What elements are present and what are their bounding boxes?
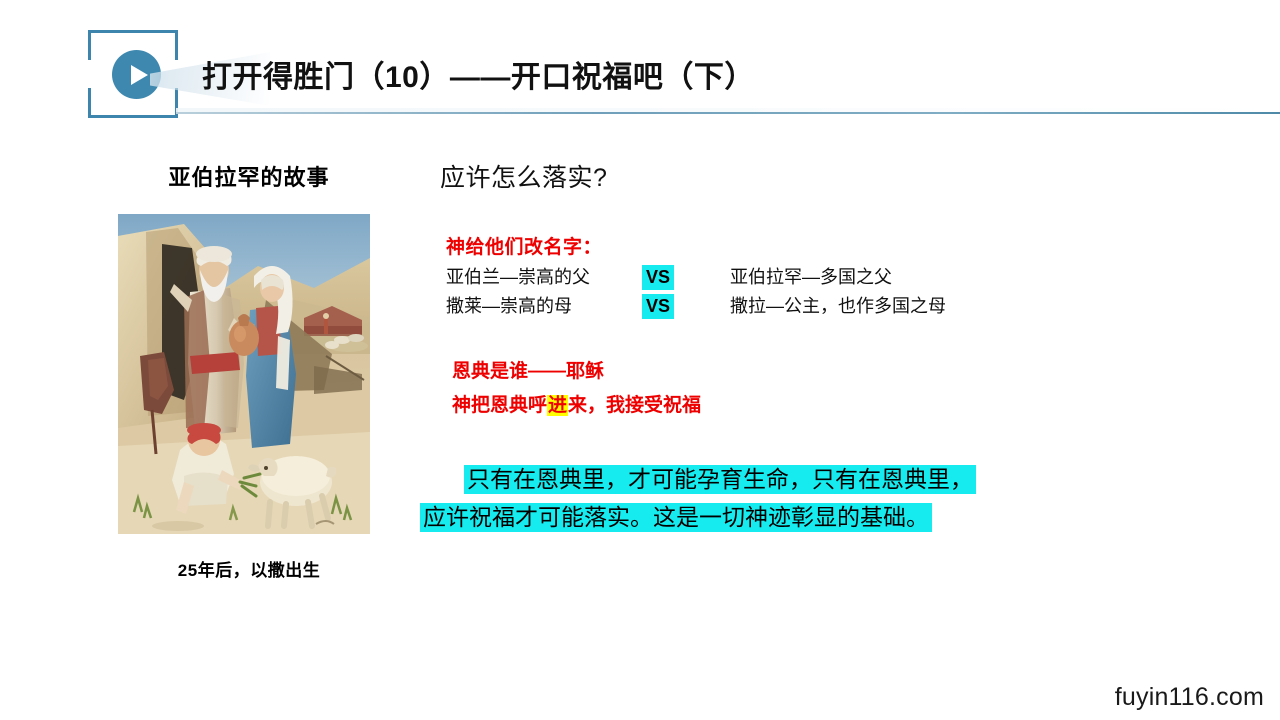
old-name-abram: 亚伯兰—崇高的父 <box>446 263 642 292</box>
bracket-right-upper-edge <box>175 30 178 60</box>
story-heading: 亚伯拉罕的故事 <box>118 160 380 192</box>
vs-badge: VS <box>642 294 674 319</box>
abraham-family-painting <box>118 214 370 534</box>
slide-header: 打开得胜门（10）——开口祝福吧（下） <box>0 0 1280 140</box>
grace-call-before: 神把恩典呼 <box>452 395 547 416</box>
grace-line-call: 神把恩典呼进来，我接受祝福 <box>452 389 1260 423</box>
site-watermark: fuyin116.com <box>1115 683 1264 712</box>
grace-block: 恩典是谁——耶稣 神把恩典呼进来，我接受祝福 <box>452 355 1260 423</box>
left-column: 亚伯拉罕的故事 <box>118 160 380 581</box>
table-row: 亚伯兰—崇高的父 VS 亚伯拉罕—多国之父 <box>446 263 1260 292</box>
grace-call-highlight: 进 <box>547 395 568 416</box>
painting-artwork <box>118 214 370 534</box>
play-icon[interactable] <box>112 50 161 99</box>
name-change-block: 神给他们改名字： 亚伯兰—崇高的父 VS 亚伯拉罕—多国之父 撒莱—崇高的母 V… <box>446 232 1260 321</box>
play-triangle-icon <box>131 65 148 85</box>
old-name-sarai: 撒莱—崇高的母 <box>446 292 642 321</box>
grace-who-text: 恩典是谁——耶稣 <box>452 361 604 382</box>
section-question: 应许怎么落实? <box>440 158 1260 194</box>
new-name-abraham: 亚伯拉罕—多国之父 <box>730 263 892 292</box>
image-caption: 25年后，以撒出生 <box>118 556 380 581</box>
quote-line-1: 只有在恩典里，才可能孕育生命，只有在恩典里， <box>464 461 1260 499</box>
page-title: 打开得胜门（10）——开口祝福吧（下） <box>202 52 755 96</box>
table-row: 撒莱—崇高的母 VS 撒拉—公主，也作多国之母 <box>446 292 1260 321</box>
bracket-bottom-edge <box>88 115 178 118</box>
quote-line-1-text: 只有在恩典里，才可能孕育生命，只有在恩典里， <box>464 465 976 494</box>
quote-line-2-text: 应许祝福才可能落实。这是一切神迹彰显的基础。 <box>420 503 932 532</box>
bracket-top-edge <box>88 30 178 33</box>
bracket-left-lower-edge <box>88 88 91 118</box>
header-divider <box>176 112 1280 114</box>
conclusion-quote: 只有在恩典里，才可能孕育生命，只有在恩典里， 应许祝福才可能落实。这是一切神迹彰… <box>420 461 1260 537</box>
grace-line-who: 恩典是谁——耶稣 <box>452 355 1260 389</box>
right-column: 应许怎么落实? 神给他们改名字： 亚伯兰—崇高的父 VS 亚伯拉罕—多国之父 撒… <box>420 158 1260 537</box>
slide: 打开得胜门（10）——开口祝福吧（下） 亚伯拉罕的故事 <box>0 0 1280 720</box>
bracket-left-upper-edge <box>88 30 91 60</box>
name-change-title: 神给他们改名字： <box>446 232 1260 259</box>
new-name-sarah: 撒拉—公主，也作多国之母 <box>730 292 946 321</box>
grace-call-after: 来，我接受祝福 <box>568 395 701 416</box>
vs-badge: VS <box>642 265 674 290</box>
quote-line-2: 应许祝福才可能落实。这是一切神迹彰显的基础。 <box>420 499 1260 537</box>
